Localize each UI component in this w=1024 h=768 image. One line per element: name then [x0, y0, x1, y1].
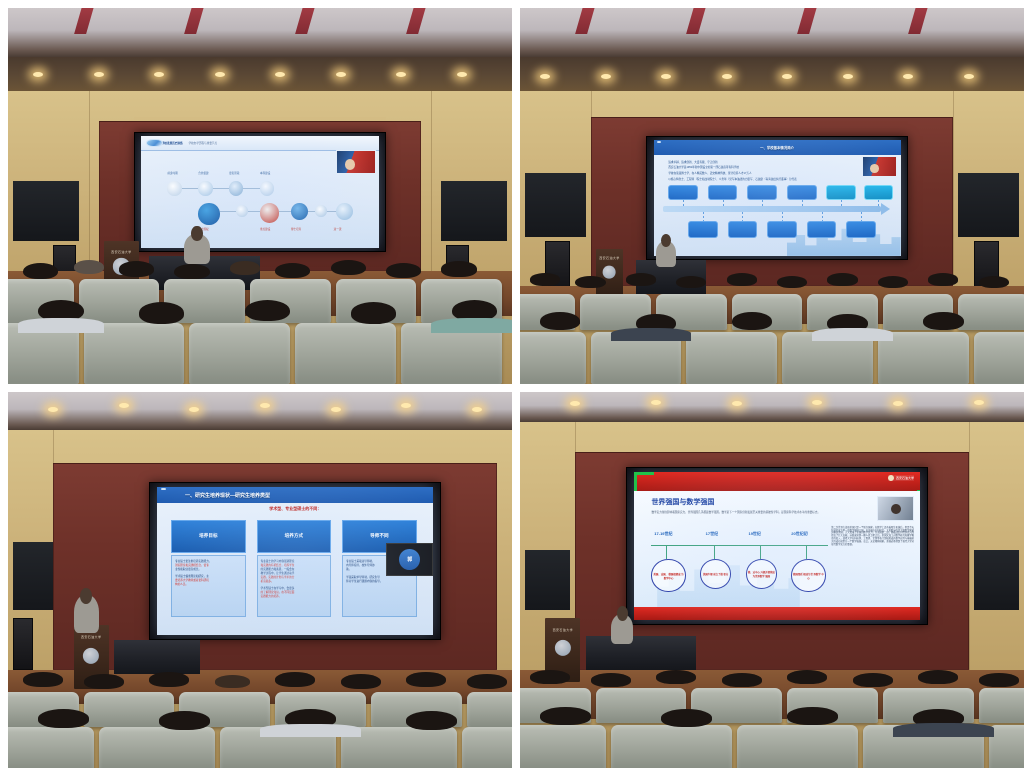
podium-label: 西安石油大学 [81, 635, 101, 639]
slide-3: 一、研究生培养现状—研究生培养类型 学术型、专业型硕士的不同： 培养目标 专业硕… [157, 487, 433, 635]
downlight [457, 72, 467, 77]
timeline-node [198, 181, 212, 196]
photo-panel-bottom-left[interactable]: 一、研究生培养现状—研究生培养类型 学术型、专业型硕士的不同： 培养目标 专业硕… [8, 392, 512, 768]
slide-title-bar: 一、学校基本情况简介 [654, 140, 901, 155]
timeline-connector [327, 211, 337, 212]
timeline-caption: 合并组建 [198, 171, 208, 175]
ceiling [8, 392, 512, 430]
timeline-connector [182, 188, 199, 189]
slide-header-title: 学校发展历史脉络 [162, 141, 183, 145]
head-table [586, 636, 697, 670]
timeline-callout: 德、法中心 升级并继续成 为世界数学 强国 [746, 559, 777, 589]
downlight [396, 72, 406, 77]
audience-area [8, 670, 512, 768]
timeline-box-top [668, 185, 698, 200]
timeline-callout: 英国、法国、 德国相继成 为数学中心 [651, 559, 685, 592]
slide-intro-paragraph: 数学实力往往影响着国家实力，世界强国几乎都是数学强国。数学是下一个国家创新发展至… [651, 511, 856, 514]
downlight [601, 74, 611, 79]
slide-top-band: 西安石油大学 [634, 472, 919, 491]
ceiling-soffit [520, 57, 1024, 91]
column-line: 构的人员。 [175, 582, 242, 586]
slide-right-paragraph: 第二次世界大战和美国只是一个新兴国家，在数学上还有着陌生和落后，但是今天知道的成… [831, 527, 914, 547]
downlight [843, 74, 853, 79]
logo-dot-icon [888, 475, 894, 481]
slide-title: 一、学校基本情况简介 [760, 145, 794, 150]
school-logo-icon [161, 488, 165, 490]
speaker-head [661, 234, 671, 247]
downlight [974, 400, 984, 405]
column-line: 业性和职业更高成长。 [175, 567, 242, 571]
timeline-node-major [291, 203, 308, 220]
webcam-face [870, 164, 878, 173]
wall-acoustic-panel [974, 550, 1019, 610]
timeline-node-major [198, 203, 219, 224]
column-header: 培养方式 [257, 520, 331, 553]
wall-acoustic-panel [13, 542, 53, 610]
timeline-box-bottom [688, 221, 718, 238]
podium-label: 西安石油大学 [111, 250, 131, 254]
wall-seam [89, 91, 90, 271]
downlight [540, 74, 550, 79]
column-body: 专业硕士更注重培养实践能力， 讲究理论和实践相结合，使专 业性和职业更高成长。 … [171, 555, 245, 618]
audience-area [8, 256, 512, 384]
head-table [114, 640, 200, 674]
downlight [336, 72, 346, 77]
timeline-connector [308, 211, 315, 212]
slide-bullet: 追求卓越、追求创新、大爱有我、守正创新 [668, 160, 717, 164]
timeline-connector [213, 188, 230, 189]
downlight [651, 400, 661, 405]
slide-header-subtitle: 学校办学历程与重要节点 [189, 141, 218, 145]
column-line: 师对学生进行课题内容的指导。 [346, 579, 413, 583]
timeline-node [336, 203, 353, 220]
wall-acoustic-panel [13, 181, 79, 241]
slide-bullet: 西安石油大学是1951年新中国设立的第一所石油高等专科学校 [668, 165, 739, 169]
video-participant-avatar: 郭 [399, 549, 420, 570]
downlight [812, 400, 822, 405]
campus-silhouette [787, 221, 901, 256]
slide-4: 西安石油大学 世界强国与数学强国 数学实力往往影响着国家实力，世界强国几乎都是数… [634, 472, 919, 620]
timeline-caption: 前身时期 [167, 171, 177, 175]
timeline-node [315, 205, 327, 217]
downlight [472, 407, 482, 412]
downlight [964, 74, 974, 79]
university-emblem-icon [83, 648, 99, 664]
timeline-era-label: 19世纪 [748, 531, 760, 537]
column-body: 专业硕士的学习内容强调理论 和实践的有机结合，培养学生 的实践能力和素质，一般会… [257, 555, 331, 618]
webcam-thumbnail[interactable] [862, 156, 897, 177]
timeline-box-top [826, 185, 856, 200]
corner-marker [634, 472, 637, 493]
timeline-box-bottom [846, 221, 876, 238]
timeline-box-top [864, 185, 894, 200]
wall-acoustic-panel [525, 173, 585, 237]
timeline-node [229, 181, 243, 196]
timeline-node [167, 181, 181, 196]
wall-seam [953, 91, 954, 279]
photo-panel-top-left[interactable]: 学校发展历史脉络 学校办学历程与重要节点 前身时期 合并组建 更名阶段 本科建设 [8, 8, 512, 384]
timeline-connector [220, 211, 237, 212]
wall-seam [431, 91, 432, 271]
downlight [661, 74, 671, 79]
timeline-axis [663, 206, 880, 212]
corner-marker [634, 472, 654, 475]
ceiling [520, 8, 1024, 57]
timeline-callout: 德国哥廷 根成为世 界数学 中心 [791, 559, 825, 592]
timeline-node [260, 181, 274, 196]
podium-label: 西安石油大学 [599, 256, 619, 260]
timeline-box-top [787, 185, 817, 200]
podium-label: 西安石油大学 [553, 628, 573, 632]
webcam-face [891, 504, 901, 514]
timeline-box-bottom [767, 221, 797, 238]
downlight [215, 72, 225, 77]
projection-screen[interactable]: 一、研究生培养现状—研究生培养类型 学术型、专业型硕士的不同： 培养目标 专业硕… [149, 482, 441, 640]
comparison-column: 培养方式 专业硕士的学习内容强调理论 和实践的有机结合，培养学生 的实践能力和素… [257, 520, 331, 618]
slide-2: 一、学校基本情况简介 追求卓越、追求创新、大爱有我、守正创新 西安石油大学是19… [654, 140, 901, 256]
slide-bottom-band [634, 607, 919, 620]
wall-acoustic-panel [958, 173, 1018, 237]
downlight [94, 72, 104, 77]
timeline-era-label: 17世纪 [706, 531, 718, 537]
school-logo-icon [657, 141, 661, 143]
webcam-face [345, 159, 355, 169]
timeline-box-bottom [807, 221, 837, 238]
column-line: 析高频多。 [261, 579, 328, 583]
timeline-caption: 博士培育 [291, 227, 301, 231]
wall-acoustic-panel [441, 181, 507, 241]
logo-text: 西安石油大学 [896, 476, 914, 480]
webcam-thumbnail[interactable] [877, 496, 914, 521]
projection-screen[interactable]: 西安石油大学 世界强国与数学强国 数学实力往往影响着国家实力，世界强国几乎都是数… [626, 467, 928, 625]
slide-title: 一、研究生培养现状—研究生培养类型 [185, 492, 270, 499]
slide-header-bar: 学校发展历史脉络 学校办学历程与重要节点 [141, 136, 379, 151]
timeline-caption: 更名阶段 [229, 171, 239, 175]
loudspeaker [13, 618, 33, 671]
wall-acoustic-panel [525, 550, 570, 610]
timeline-caption: 重点建设 [260, 227, 270, 231]
timeline-era-label: 20世纪初 [791, 531, 807, 537]
timeline-box-top [708, 185, 738, 200]
timeline-connector [243, 188, 260, 189]
timeline-node-major [260, 203, 279, 222]
timeline-caption: 双一流 [334, 227, 342, 231]
column-line: 实践能力的培养。 [261, 594, 328, 598]
ceiling-soffit [8, 57, 512, 91]
photo-panel-bottom-right[interactable]: 西安石油大学 世界强国与数学强国 数学实力往往影响着国家实力，世界强国几乎都是数… [520, 392, 1024, 768]
timeline-box-bottom [728, 221, 758, 238]
photo-panel-top-right[interactable]: 一、学校基本情况简介 追求卓越、追求创新、大爱有我、守正创新 西安石油大学是19… [520, 8, 1024, 384]
timeline-era-label: 17-19世纪 [654, 531, 672, 537]
timeline-box-top [747, 185, 777, 200]
downlight [154, 72, 164, 77]
webcam-thumbnail[interactable] [336, 150, 376, 175]
university-logo: 西安石油大学 [888, 475, 914, 481]
speaker-head [191, 226, 202, 241]
audience-area [520, 271, 1024, 384]
slide-title: 世界强国与数学强国 [651, 497, 714, 507]
timeline-axis [651, 545, 828, 546]
downlight [331, 407, 341, 412]
speaker-head [617, 606, 628, 621]
ceiling [520, 392, 1024, 422]
column-header: 培养目标 [171, 520, 245, 553]
projection-screen[interactable]: 一、学校基本情况简介 追求卓越、追求创新、大爱有我、守正创新 西安石油大学是19… [646, 136, 908, 260]
comparison-column: 培养目标 专业硕士更注重培养实践能力， 讲究理论和实践相结合，使专 业性和职业更… [171, 520, 245, 618]
slide-1: 学校发展历史脉络 学校办学历程与重要节点 前身时期 合并组建 更名阶段 本科建设 [141, 136, 379, 248]
photo-collage: 学校发展历史脉络 学校办学历程与重要节点 前身时期 合并组建 更名阶段 本科建设 [0, 0, 1024, 768]
video-call-overlay[interactable]: 郭 [386, 543, 433, 576]
school-logo-icon [146, 139, 163, 147]
downlight [903, 74, 913, 79]
timeline-node [236, 205, 248, 217]
timeline-connector [279, 211, 291, 212]
downlight [275, 72, 285, 77]
timeline-connector [248, 211, 260, 212]
slide-bullet: 以核心特色士、工程师（院士和改制院士）、义务年（党军本油战的力量军、石油建（青海… [668, 177, 796, 181]
university-emblem-icon [555, 640, 571, 656]
projection-screen[interactable]: 学校发展历史脉络 学校办学历程与重要节点 前身时期 合并组建 更名阶段 本科建设 [134, 132, 386, 252]
wall-seam [969, 422, 970, 685]
downlight [33, 72, 43, 77]
slide-bullet: 学校在读硕博士学、在人精英数人、近交精神传统、累计培养人才17万人 [668, 171, 751, 175]
downlight [782, 74, 792, 79]
timeline-caption: 本科建设 [260, 171, 270, 175]
downlight [722, 74, 732, 79]
slide-subtitle: 学术型、专业型硕士的不同： [157, 506, 433, 512]
slide-title-bar: 一、研究生培养现状—研究生培养类型 [157, 487, 433, 503]
speaker-head [80, 588, 92, 605]
audience-area [520, 670, 1024, 768]
